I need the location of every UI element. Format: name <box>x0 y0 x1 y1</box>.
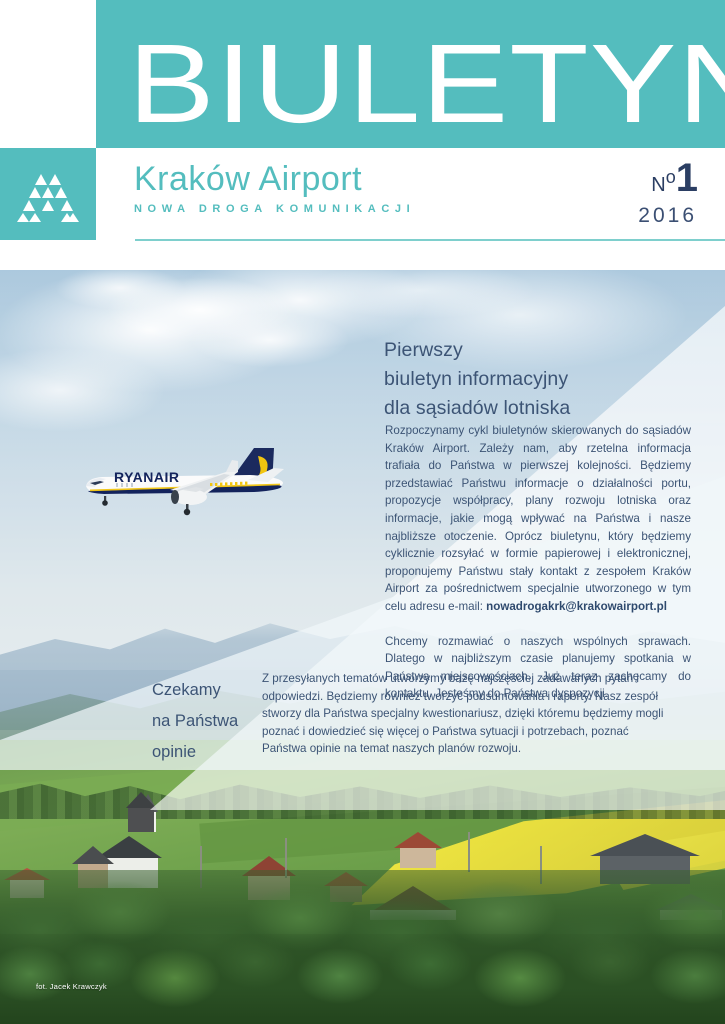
issue-identifier: No1 2016 <box>638 160 697 228</box>
feedback-paragraph: Z przesyłanych tematów utworzymy bazę na… <box>262 670 672 758</box>
intro-paragraph-1-text: Rozpoczynamy cykl biuletynów skierowanyc… <box>385 424 691 613</box>
photo-credit: fot. Jacek Krawczyk <box>36 982 107 991</box>
issue-superscript: o <box>666 167 676 187</box>
issue-year: 2016 <box>638 204 697 228</box>
feedback-text-column: Z przesyłanych tematów utworzymy bazę na… <box>262 670 672 758</box>
issue-number: 1 <box>676 156 697 200</box>
contact-email[interactable]: nowadrogakrk@krakowairport.pl <box>486 600 667 613</box>
headline-line-3: dla sąsiadów lotniska <box>384 394 704 423</box>
cover-text-content: Pierwszy biuletyn informacyjny dla sąsia… <box>0 270 725 1024</box>
brand-tagline: NOWA DROGA KOMUNIKACJI <box>134 203 415 215</box>
newsletter-cover-page: BIULETYN Kraków Airport NOWA DROGA KOMUN… <box>0 0 725 1024</box>
cover-headline: Pierwszy biuletyn informacyjny dla sąsia… <box>384 336 704 423</box>
masthead-divider-rule <box>135 239 725 241</box>
headline-line-1: Pierwszy <box>384 336 704 365</box>
krakow-airport-logo-icon <box>16 168 80 222</box>
subheading-line-1: Czekamy <box>152 675 267 706</box>
brand-name: Kraków Airport <box>134 160 415 198</box>
masthead-subtitle-group: Kraków Airport NOWA DROGA KOMUNIKACJI <box>134 160 415 215</box>
masthead: BIULETYN Kraków Airport NOWA DROGA KOMUN… <box>0 0 725 270</box>
page-title: BIULETYN <box>128 28 725 140</box>
subheading-line-2: na Państwa <box>152 706 267 737</box>
intro-text-column: Rozpoczynamy cykl biuletynów skierowanyc… <box>385 422 691 703</box>
issue-number-line: No1 <box>638 160 697 202</box>
subheading-line-3: opinie <box>152 737 267 768</box>
headline-line-2: biuletyn informacyjny <box>384 365 704 394</box>
intro-paragraph-1: Rozpoczynamy cykl biuletynów skierowanyc… <box>385 422 691 616</box>
cover-photograph: RYANAIR Pierwszy biuletyn informacyjny d… <box>0 270 725 1024</box>
issue-prefix: N <box>651 174 665 196</box>
section-subheading: Czekamy na Państwa opinie <box>152 675 267 768</box>
